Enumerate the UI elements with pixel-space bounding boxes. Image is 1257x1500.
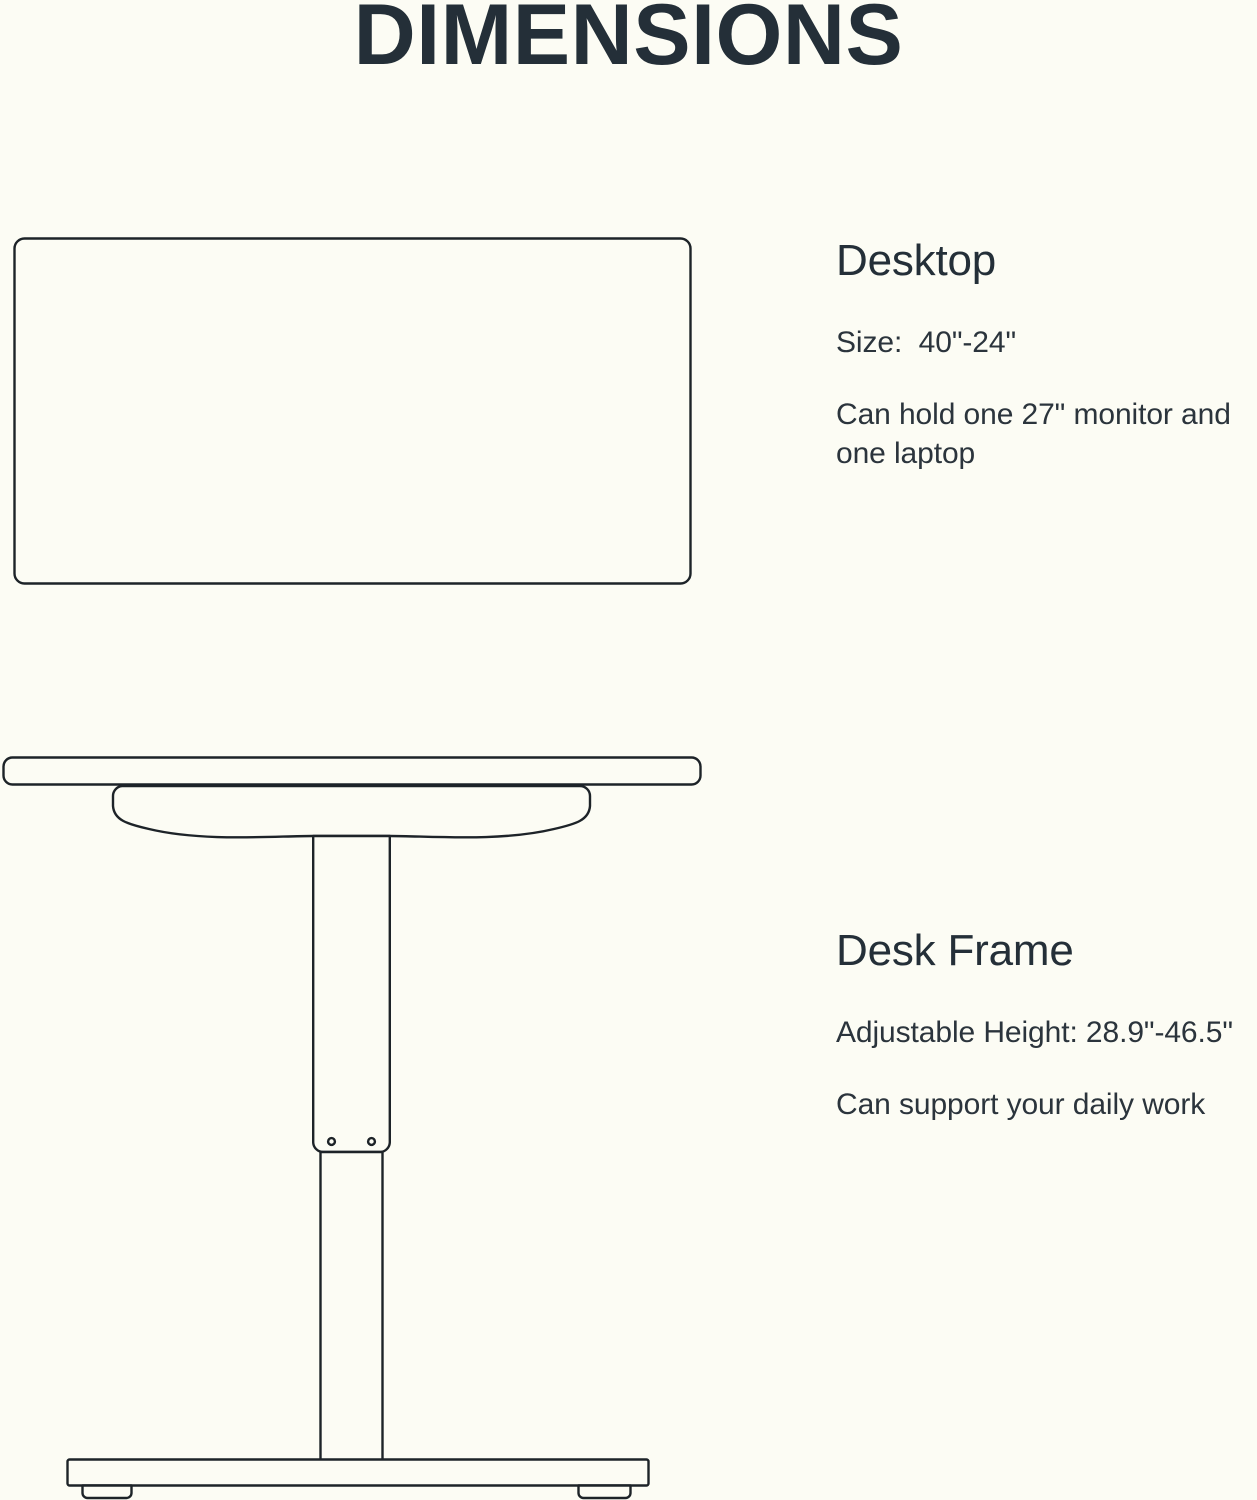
- base-bar: [68, 1460, 649, 1486]
- desk-frame-support-line: Can support your daily work: [836, 1085, 1257, 1125]
- desktop-top-view-outline: [15, 239, 691, 584]
- upper-column: [313, 836, 390, 1152]
- right-foot: [579, 1486, 631, 1499]
- desktop-size-line: Size: 40"-24": [836, 323, 1257, 363]
- desktop-heading: Desktop: [836, 236, 1257, 285]
- bolt-hole-left: [328, 1138, 335, 1145]
- desk-frame-height-line: Adjustable Height: 28.9"-46.5": [836, 1013, 1257, 1053]
- lower-column: [321, 1152, 383, 1460]
- desk-frame-info-block: Desk Frame Adjustable Height: 28.9"-46.5…: [836, 926, 1257, 1124]
- left-foot: [83, 1486, 132, 1499]
- dimensions-technical-drawing: [0, 0, 1257, 1500]
- desktop-capacity-line: Can hold one 27" monitor and one laptop: [836, 395, 1257, 474]
- dimensions-page: DIMENSIONS Desktop Size: 40"-: [0, 0, 1257, 1500]
- bolt-hole-right: [368, 1138, 375, 1145]
- tabletop-slab: [4, 758, 701, 785]
- mounting-bracket: [113, 786, 590, 837]
- desktop-info-block: Desktop Size: 40"-24" Can hold one 27" m…: [836, 236, 1257, 474]
- desk-frame-heading: Desk Frame: [836, 926, 1257, 975]
